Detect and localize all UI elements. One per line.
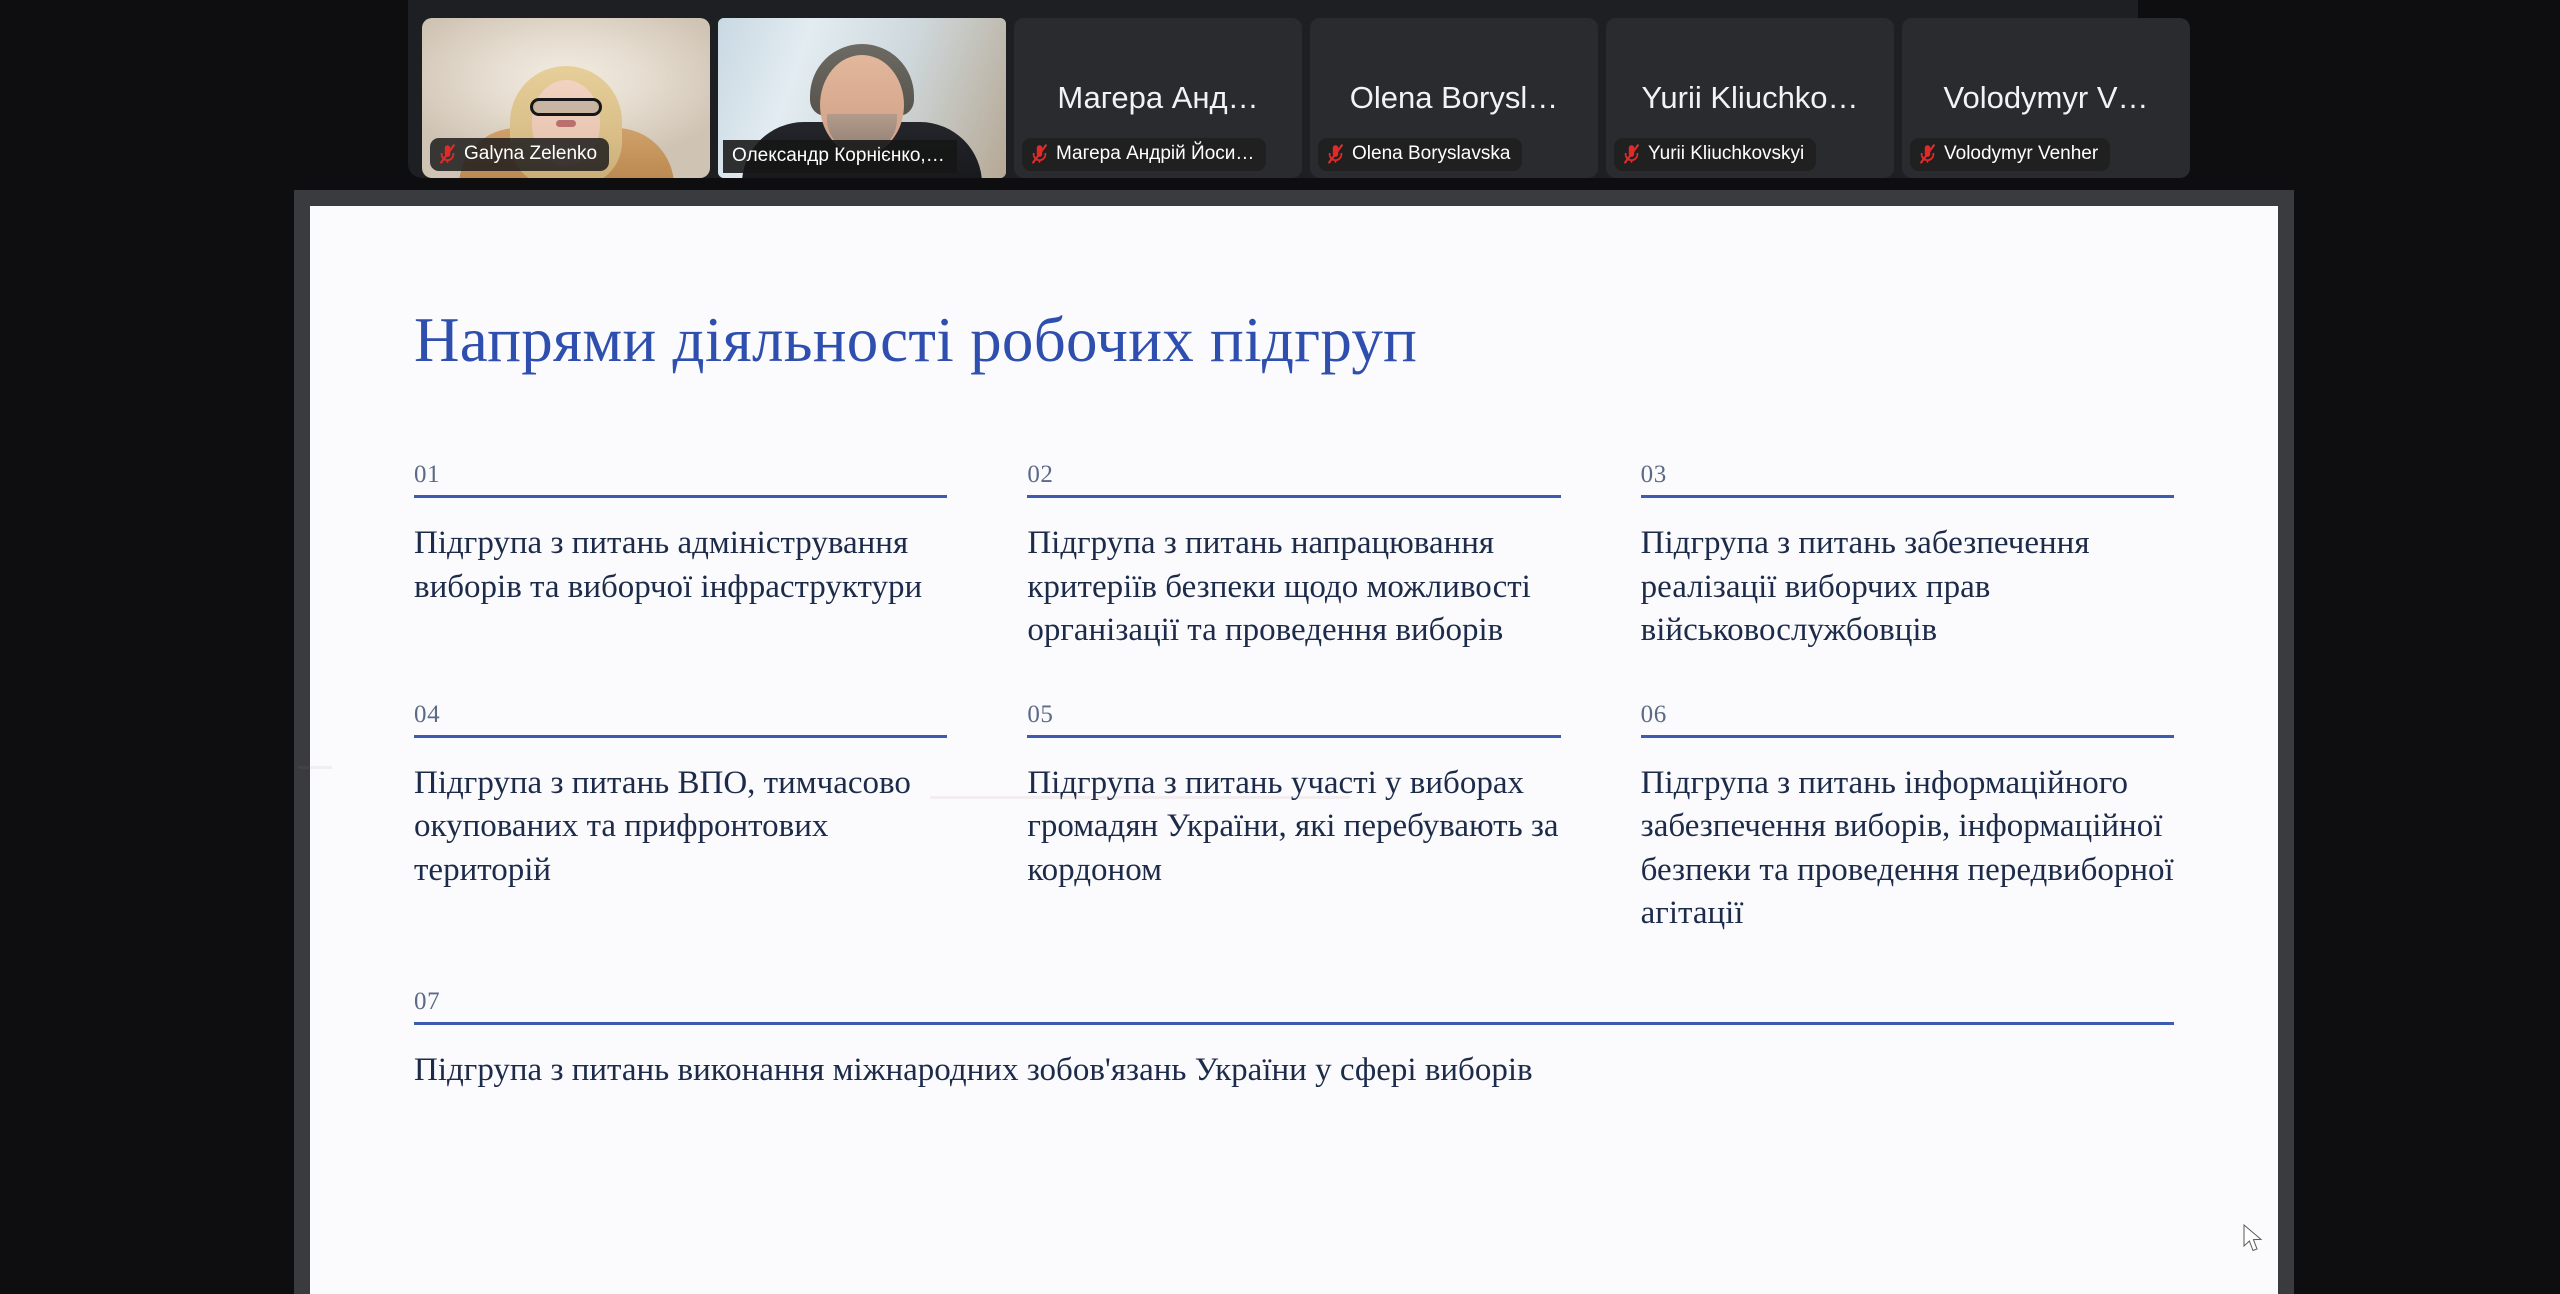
subgroup-item-02: 02 Підгрупа з питань напрацювання критер…	[1027, 461, 1560, 675]
subgroup-number: 02	[1027, 461, 1560, 489]
participant-name-chip: Olena Boryslavska	[1318, 138, 1522, 171]
mic-off-icon	[439, 144, 456, 164]
participant-video-strip: Galyna Zelenko Олександр Корнієнко,… Маг…	[408, 0, 2138, 178]
participant-display-name: Yurii Kliuchko…	[1631, 80, 1868, 116]
participant-display-name: Volodymyr V…	[1933, 80, 2158, 116]
mouse-cursor	[2243, 1224, 2265, 1254]
subgroup-item-07: 07 Підгрупа з питань виконання міжнародн…	[414, 988, 2174, 1093]
zoom-meeting-screen: Galyna Zelenko Олександр Корнієнко,… Маг…	[0, 0, 2560, 1294]
participant-name-label: Магера Андрій Йоси…	[1056, 143, 1254, 165]
participant-name-label: Volodymyr Venher	[1944, 143, 2098, 165]
participant-tile-galyna-zelenko[interactable]: Galyna Zelenko	[422, 18, 710, 178]
participant-tile-yurii-kliuchkovskyi[interactable]: Yurii Kliuchko… Yurii Kliuchkovskyi	[1606, 18, 1894, 178]
subgroup-item-06: 06 Підгрупа з питань інформаційного забе…	[1641, 701, 2174, 958]
presentation-slide: Напрями діяльності робочих підгруп 01 Пі…	[310, 206, 2278, 1294]
subgroup-number: 01	[414, 461, 947, 489]
mic-off-icon	[1919, 144, 1936, 164]
subgroup-number: 06	[1641, 701, 2174, 729]
slide-artifact-mark	[298, 766, 332, 769]
shared-screen-frame: Напрями діяльності робочих підгруп 01 Пі…	[294, 190, 2294, 1294]
subgroup-divider	[1641, 495, 2174, 498]
mic-off-icon	[1623, 144, 1640, 164]
subgroup-text: Підгрупа з питань напрацювання критеріїв…	[1027, 522, 1560, 653]
participant-tile-mahera-andrii[interactable]: Магера Анд… Магера Андрій Йоси…	[1014, 18, 1302, 178]
subgroup-divider	[1641, 735, 2174, 738]
participant-name-label: Yurii Kliuchkovskyi	[1648, 143, 1804, 165]
subgroup-number: 03	[1641, 461, 2174, 489]
subgroup-item-01: 01 Підгрупа з питань адміністрування виб…	[414, 461, 947, 675]
subgroup-number: 04	[414, 701, 947, 729]
subgroup-divider	[414, 1022, 2174, 1025]
participant-display-name: Магера Анд…	[1047, 80, 1268, 116]
participant-name-chip: Galyna Zelenko	[430, 138, 609, 171]
subgroup-text: Підгрупа з питань виконання міжнародних …	[414, 1049, 2174, 1093]
participant-name-label: Olena Boryslavska	[1352, 143, 1510, 165]
participant-name-chip: Yurii Kliuchkovskyi	[1614, 138, 1816, 171]
subgroup-item-05: 05 Підгрупа з питань участі у виборах гр…	[1027, 701, 1560, 958]
subgroup-text: Підгрупа з питань забезпечення реалізаці…	[1641, 522, 2174, 653]
participant-tile-volodymyr-venher[interactable]: Volodymyr V… Volodymyr Venher	[1902, 18, 2190, 178]
subgroup-number: 07	[414, 988, 2174, 1016]
slide-artifact-mark	[930, 796, 1350, 799]
participant-name-chip: Volodymyr Venher	[1910, 138, 2110, 171]
participant-name-chip: Олександр Корнієнко,…	[723, 140, 957, 173]
subgroup-text: Підгрупа з питань ВПО, тимчасово окупова…	[414, 762, 947, 893]
participant-tile-olena-boryslavska[interactable]: Olena Borysl… Olena Boryslavska	[1310, 18, 1598, 178]
subgroup-item-03: 03 Підгрупа з питань забезпечення реаліз…	[1641, 461, 2174, 675]
subgroup-text: Підгрупа з питань адміністрування виборі…	[414, 522, 947, 609]
subgroup-divider	[1027, 735, 1560, 738]
subgroup-grid: 01 Підгрупа з питань адміністрування виб…	[414, 461, 2174, 958]
participant-name-label: Galyna Zelenko	[464, 143, 597, 165]
mic-off-icon	[1031, 144, 1048, 164]
mic-off-icon	[1327, 144, 1344, 164]
subgroup-divider	[414, 735, 947, 738]
participant-name-label: Олександр Корнієнко,…	[732, 145, 945, 167]
subgroup-text: Підгрупа з питань участі у виборах грома…	[1027, 762, 1560, 893]
participant-tile-oleksandr-korniienko[interactable]: Олександр Корнієнко,…	[718, 18, 1006, 178]
subgroup-text: Підгрупа з питань інформаційного забезпе…	[1641, 762, 2174, 936]
subgroup-divider	[414, 495, 947, 498]
participant-display-name: Olena Borysl…	[1340, 80, 1568, 116]
slide-title: Напрями діяльності робочих підгруп	[414, 304, 2174, 377]
subgroup-divider	[1027, 495, 1560, 498]
subgroup-number: 05	[1027, 701, 1560, 729]
subgroup-item-04: 04 Підгрупа з питань ВПО, тимчасово окуп…	[414, 701, 947, 958]
participant-name-chip: Магера Андрій Йоси…	[1022, 138, 1266, 171]
